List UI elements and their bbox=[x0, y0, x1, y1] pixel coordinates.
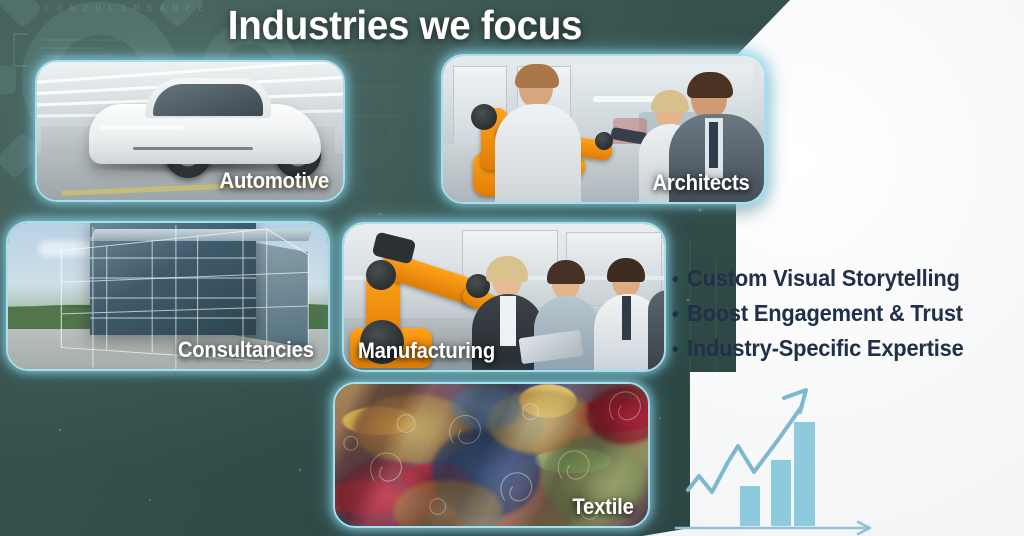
growth-chart bbox=[672, 382, 902, 536]
chart-trend-arrow-icon bbox=[784, 390, 806, 412]
manufacturing-image: Manufacturing bbox=[344, 224, 664, 370]
architects-image: Architects bbox=[443, 56, 764, 202]
bullet-dot-icon: • bbox=[672, 299, 678, 332]
consultancies-image: Consultancies bbox=[8, 223, 328, 369]
chart-bar-2 bbox=[771, 460, 791, 526]
growth-chart-svg bbox=[672, 382, 902, 536]
automotive-image: Automotive bbox=[37, 62, 343, 200]
industry-card-consultancies[interactable]: Consultancies bbox=[6, 221, 330, 371]
bullet-dot-icon: • bbox=[672, 334, 678, 367]
card-label-automotive: Automotive bbox=[220, 168, 329, 194]
hud-line-1: C O N 2 U L I M B A N E E bbox=[44, 4, 204, 14]
industry-card-architects[interactable]: Architects bbox=[441, 54, 766, 204]
card-label-manufacturing: Manufacturing bbox=[358, 338, 495, 364]
industry-card-automotive[interactable]: Automotive bbox=[35, 60, 345, 202]
benefit-item-1: • Custom Visual Storytelling bbox=[672, 262, 995, 297]
industry-card-textile[interactable]: Textile bbox=[333, 382, 650, 528]
benefit-label-3: Industry-Specific Expertise bbox=[687, 332, 964, 365]
card-label-textile: Textile bbox=[573, 494, 634, 520]
chart-bar-3 bbox=[794, 422, 815, 526]
slide-canvas: C O N 2 U L I M B A N E E · · · · · · · … bbox=[0, 0, 1024, 536]
benefit-item-3: • Industry-Specific Expertise bbox=[672, 332, 995, 367]
card-label-architects: Architects bbox=[653, 170, 750, 196]
benefits-list: • Custom Visual Storytelling • Boost Eng… bbox=[672, 262, 1012, 367]
industry-card-manufacturing[interactable]: Manufacturing bbox=[342, 222, 666, 372]
textile-image: Textile bbox=[335, 384, 648, 526]
card-label-consultancies: Consultancies bbox=[178, 337, 314, 363]
benefit-label-1: Custom Visual Storytelling bbox=[687, 262, 960, 295]
benefit-item-2: • Boost Engagement & Trust bbox=[672, 297, 995, 332]
bullet-dot-icon: • bbox=[672, 264, 678, 297]
benefit-label-2: Boost Engagement & Trust bbox=[687, 297, 963, 330]
page-title: Industries we focus bbox=[184, 2, 626, 48]
chart-bar-1 bbox=[740, 486, 760, 526]
